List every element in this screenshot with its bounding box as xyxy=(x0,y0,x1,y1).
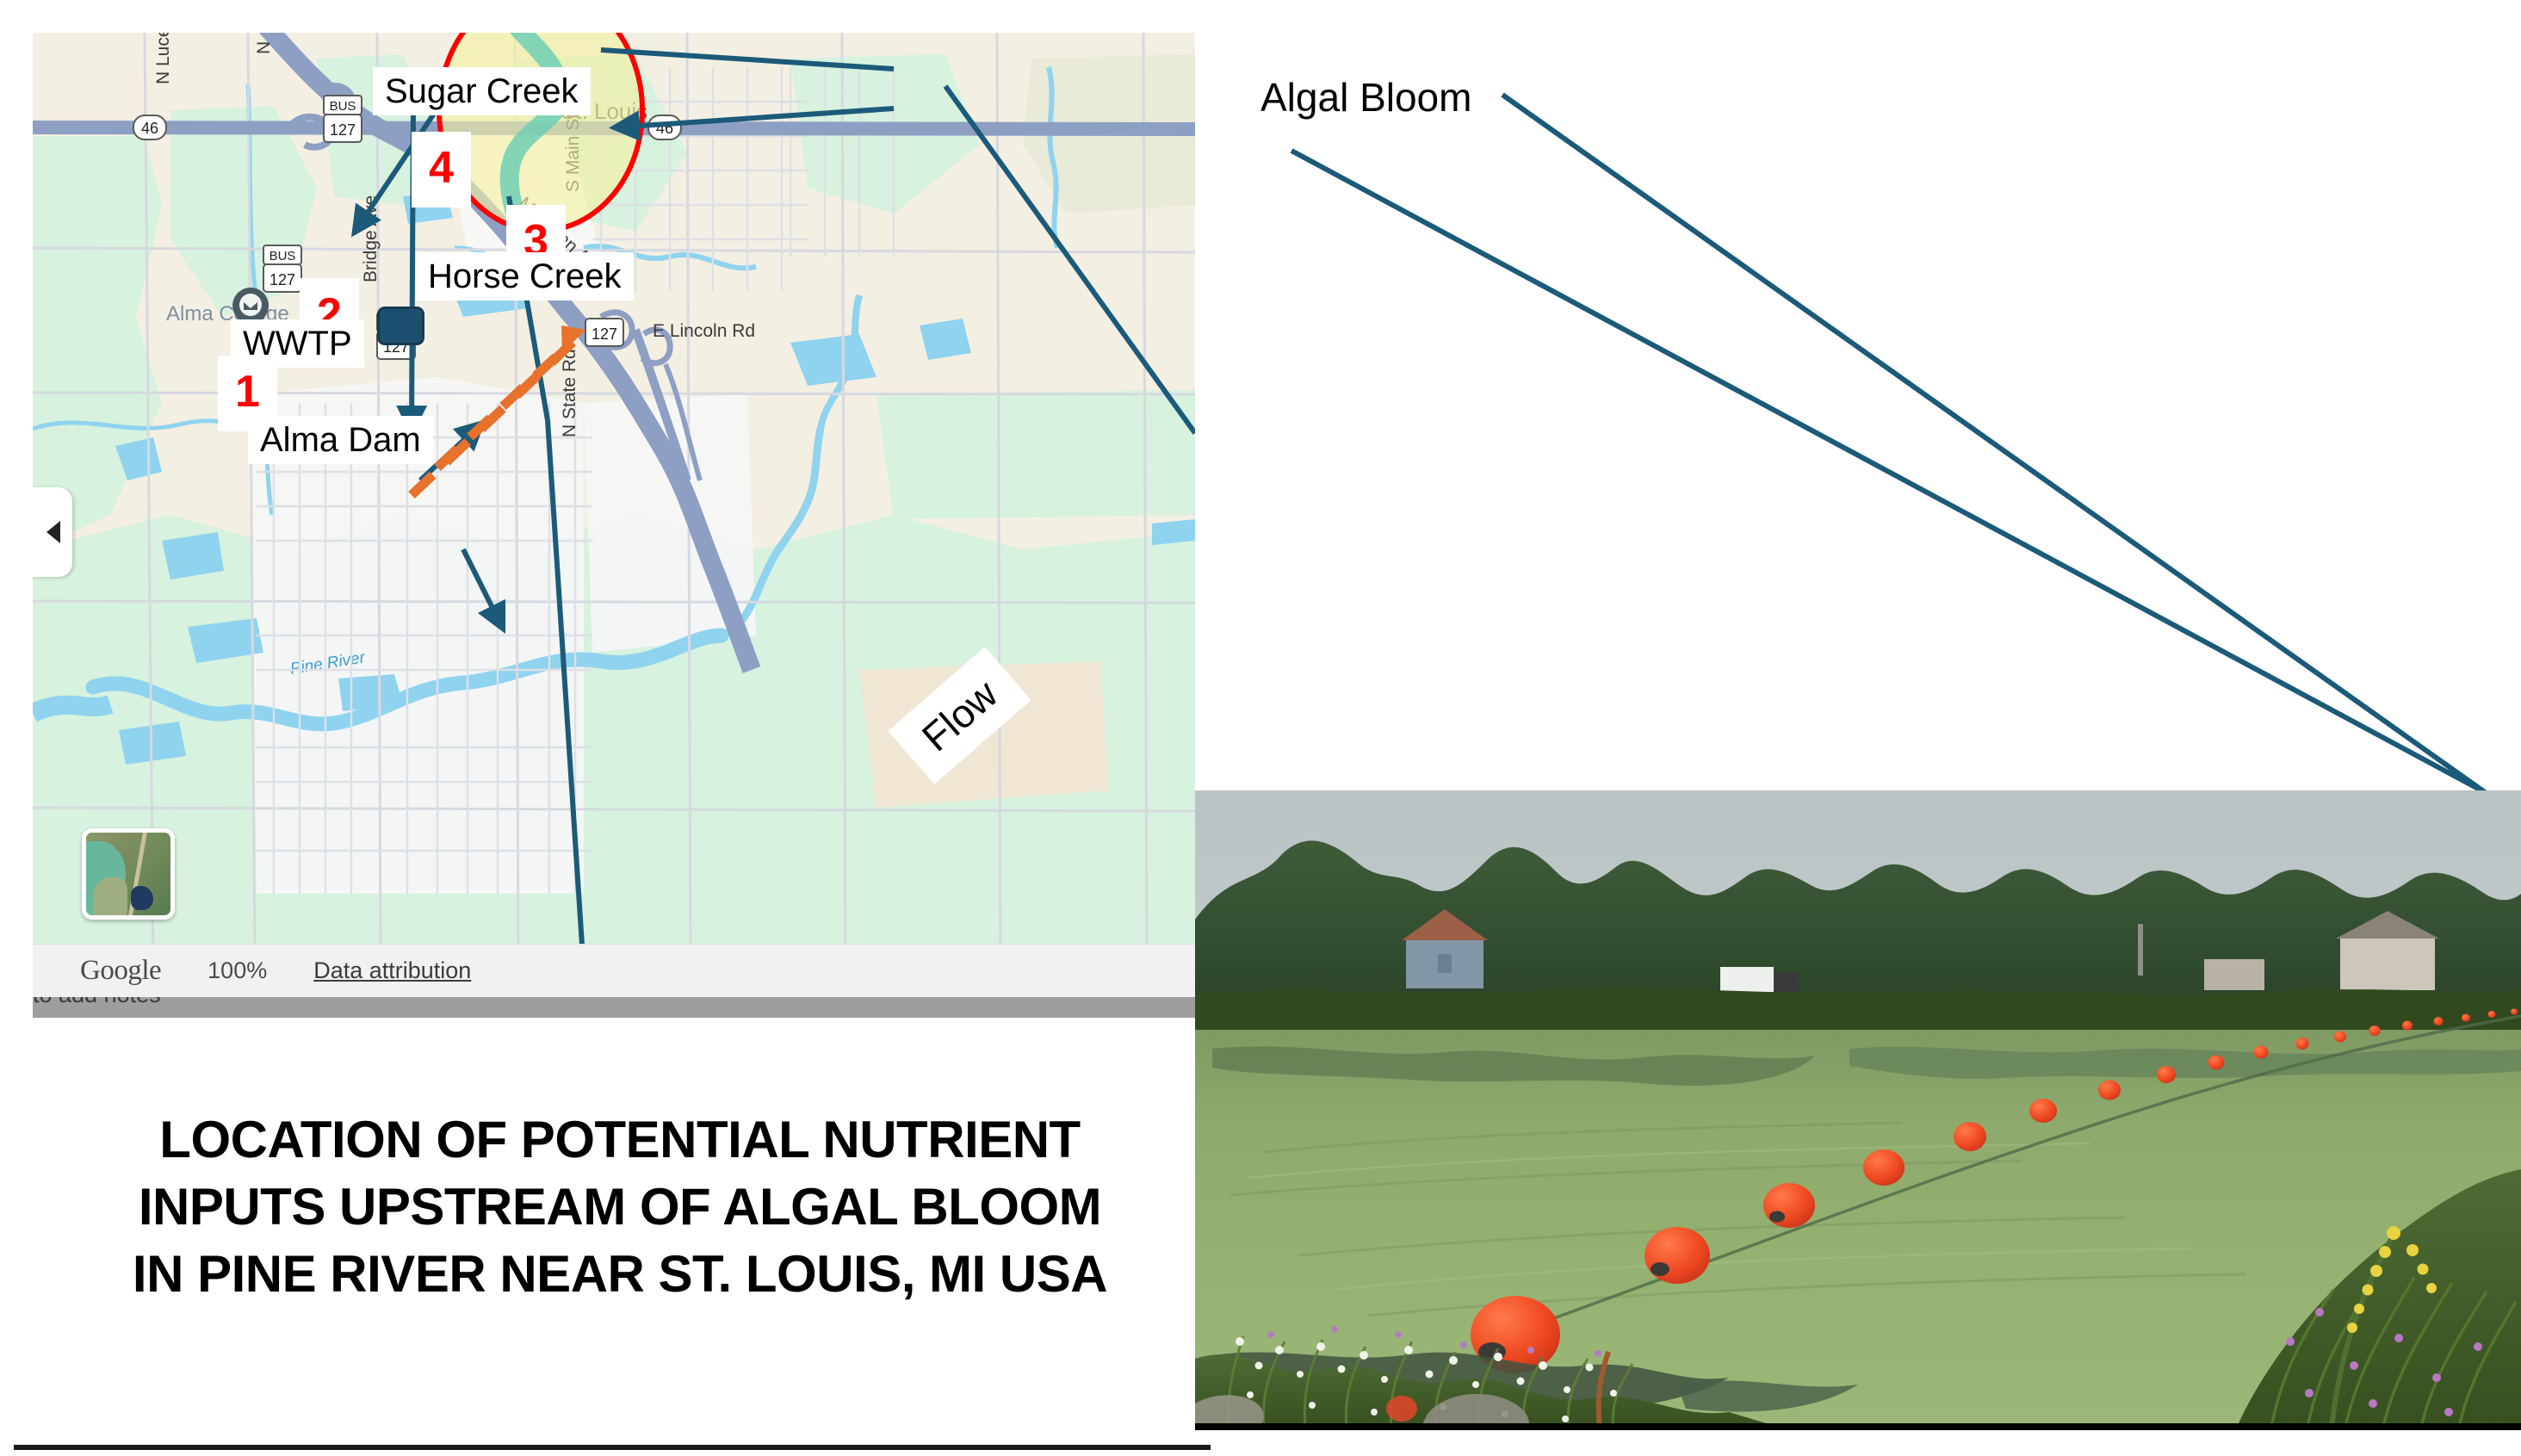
label-n-road: N xyxy=(254,41,274,54)
svg-text:127: 127 xyxy=(592,325,617,343)
bank-buoy xyxy=(1386,1396,1417,1422)
satellite-view-thumbnail[interactable] xyxy=(82,828,175,920)
map-footer-bar: Google 100% Data attribution xyxy=(33,944,1195,997)
caption-line-1: LOCATION OF POTENTIAL NUTRIENT xyxy=(52,1106,1188,1174)
svg-text:BUS: BUS xyxy=(330,99,356,114)
caption-line-3: IN PINE RIVER NEAR ST. LOUIS, MI USA xyxy=(52,1241,1188,1308)
svg-text:127: 127 xyxy=(269,271,295,288)
thumb-lake xyxy=(131,886,153,910)
annotation-algal-bloom: Algal Bloom xyxy=(1248,71,1483,125)
shield-bus127-alma: BUS 127 xyxy=(263,245,301,292)
wwtp-marker-rect xyxy=(377,307,424,345)
shield-us127-lincoln: 127 xyxy=(585,319,623,346)
annotation-number-4: 4 xyxy=(412,132,471,208)
shoreline-hedge xyxy=(1195,988,2521,1037)
map-zoom-level: 100% xyxy=(208,957,267,984)
annotation-sugar-creek: Sugar Creek xyxy=(373,67,591,115)
map-collapse-button[interactable] xyxy=(33,487,72,577)
label-n-luce-rd: N Luce Rd xyxy=(153,33,173,84)
svg-text:127: 127 xyxy=(330,121,356,139)
svg-text:46: 46 xyxy=(141,120,158,137)
thumb-water-secondary xyxy=(93,877,127,920)
figure-caption: LOCATION OF POTENTIAL NUTRIENT INPUTS UP… xyxy=(52,1106,1188,1308)
shield-bus127-top: BUS 127 xyxy=(324,96,362,142)
photo-content xyxy=(1195,790,2521,1428)
annotation-alma-dam: Alma Dam xyxy=(248,416,433,464)
annotation-horse-creek: Horse Creek xyxy=(416,252,634,300)
caption-line-2: INPUTS UPSTREAM OF ALGAL BLOOM xyxy=(52,1174,1188,1241)
bottom-divider xyxy=(14,1445,1211,1450)
google-map-panel[interactable]: Pine River xyxy=(33,33,1195,990)
photo-bottom-rule xyxy=(1195,1423,2521,1430)
algal-bloom-photo xyxy=(1195,790,2521,1428)
chevron-left-icon xyxy=(46,521,60,543)
map-canvas: Pine River xyxy=(33,33,1195,990)
svg-text:BUS: BUS xyxy=(269,249,296,263)
label-e-lincoln-rd: E Lincoln Rd xyxy=(653,321,755,341)
shield-46: 46 xyxy=(133,115,166,139)
data-attribution-link[interactable]: Data attribution xyxy=(313,957,471,984)
label-n-state-rd: N State Rd xyxy=(560,349,579,437)
google-logo: Google xyxy=(80,955,161,987)
